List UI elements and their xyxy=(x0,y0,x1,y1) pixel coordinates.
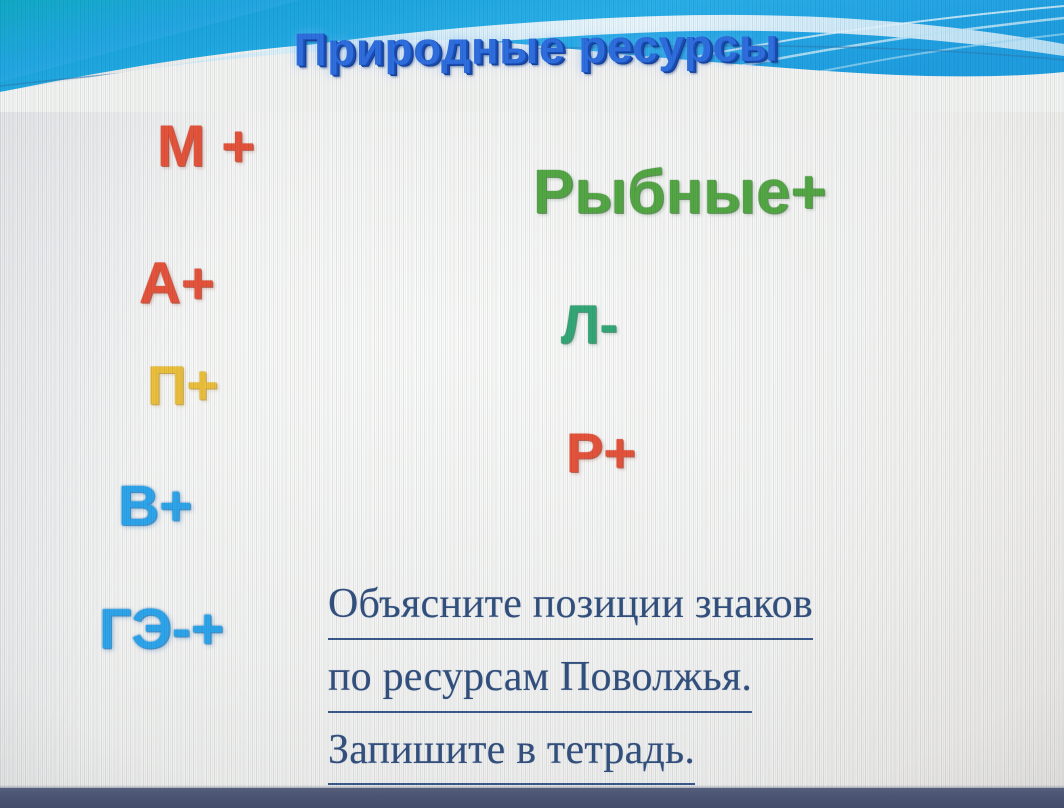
instruction-text: Объясните позиции знаков по ресурсам Пов… xyxy=(328,573,1028,791)
resource-label-water: В+ xyxy=(118,478,192,535)
resource-label-agroclimatic: А+ xyxy=(139,255,215,313)
resource-label-recreation: Р+ xyxy=(566,425,636,481)
resource-label-mineral: М + xyxy=(157,118,255,176)
monitor-bezel xyxy=(0,788,1064,808)
resource-label-fish: Рыбные+ xyxy=(533,162,827,224)
instruction-line-1: Объясните позиции знаков xyxy=(328,573,813,640)
presentation-slide: Природные ресурсы М + А+ П+ В+ ГЭ-+ Рыбн… xyxy=(0,0,1064,808)
instruction-line-3: Запишите в тетрадь. xyxy=(328,719,695,786)
instruction-line-2: по ресурсам Поволжья. xyxy=(328,646,752,713)
resource-label-soil: П+ xyxy=(147,358,219,413)
resource-label-hydropower: ГЭ-+ xyxy=(99,601,224,658)
slide-title: Природные ресурсы xyxy=(236,21,836,73)
resource-label-forest: Л- xyxy=(561,297,618,352)
